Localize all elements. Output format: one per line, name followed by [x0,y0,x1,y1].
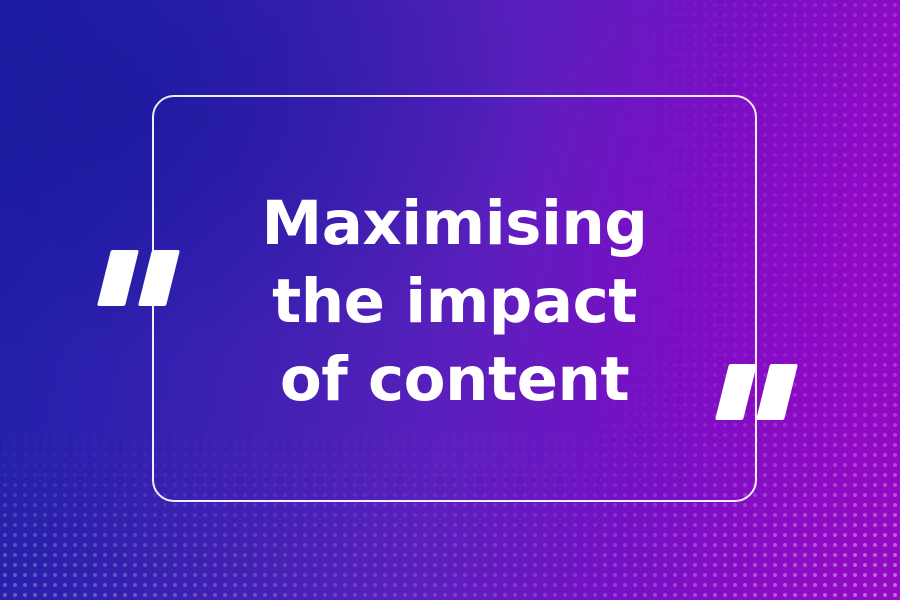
headline: Maximising the impact of content [152,95,757,502]
headline-line-2: the impact [272,263,637,341]
headline-line-3: of content [280,341,629,419]
headline-line-1: Maximising [262,185,648,263]
quote-slide: Maximising the impact of content [0,0,900,600]
quote-bar [97,250,139,306]
